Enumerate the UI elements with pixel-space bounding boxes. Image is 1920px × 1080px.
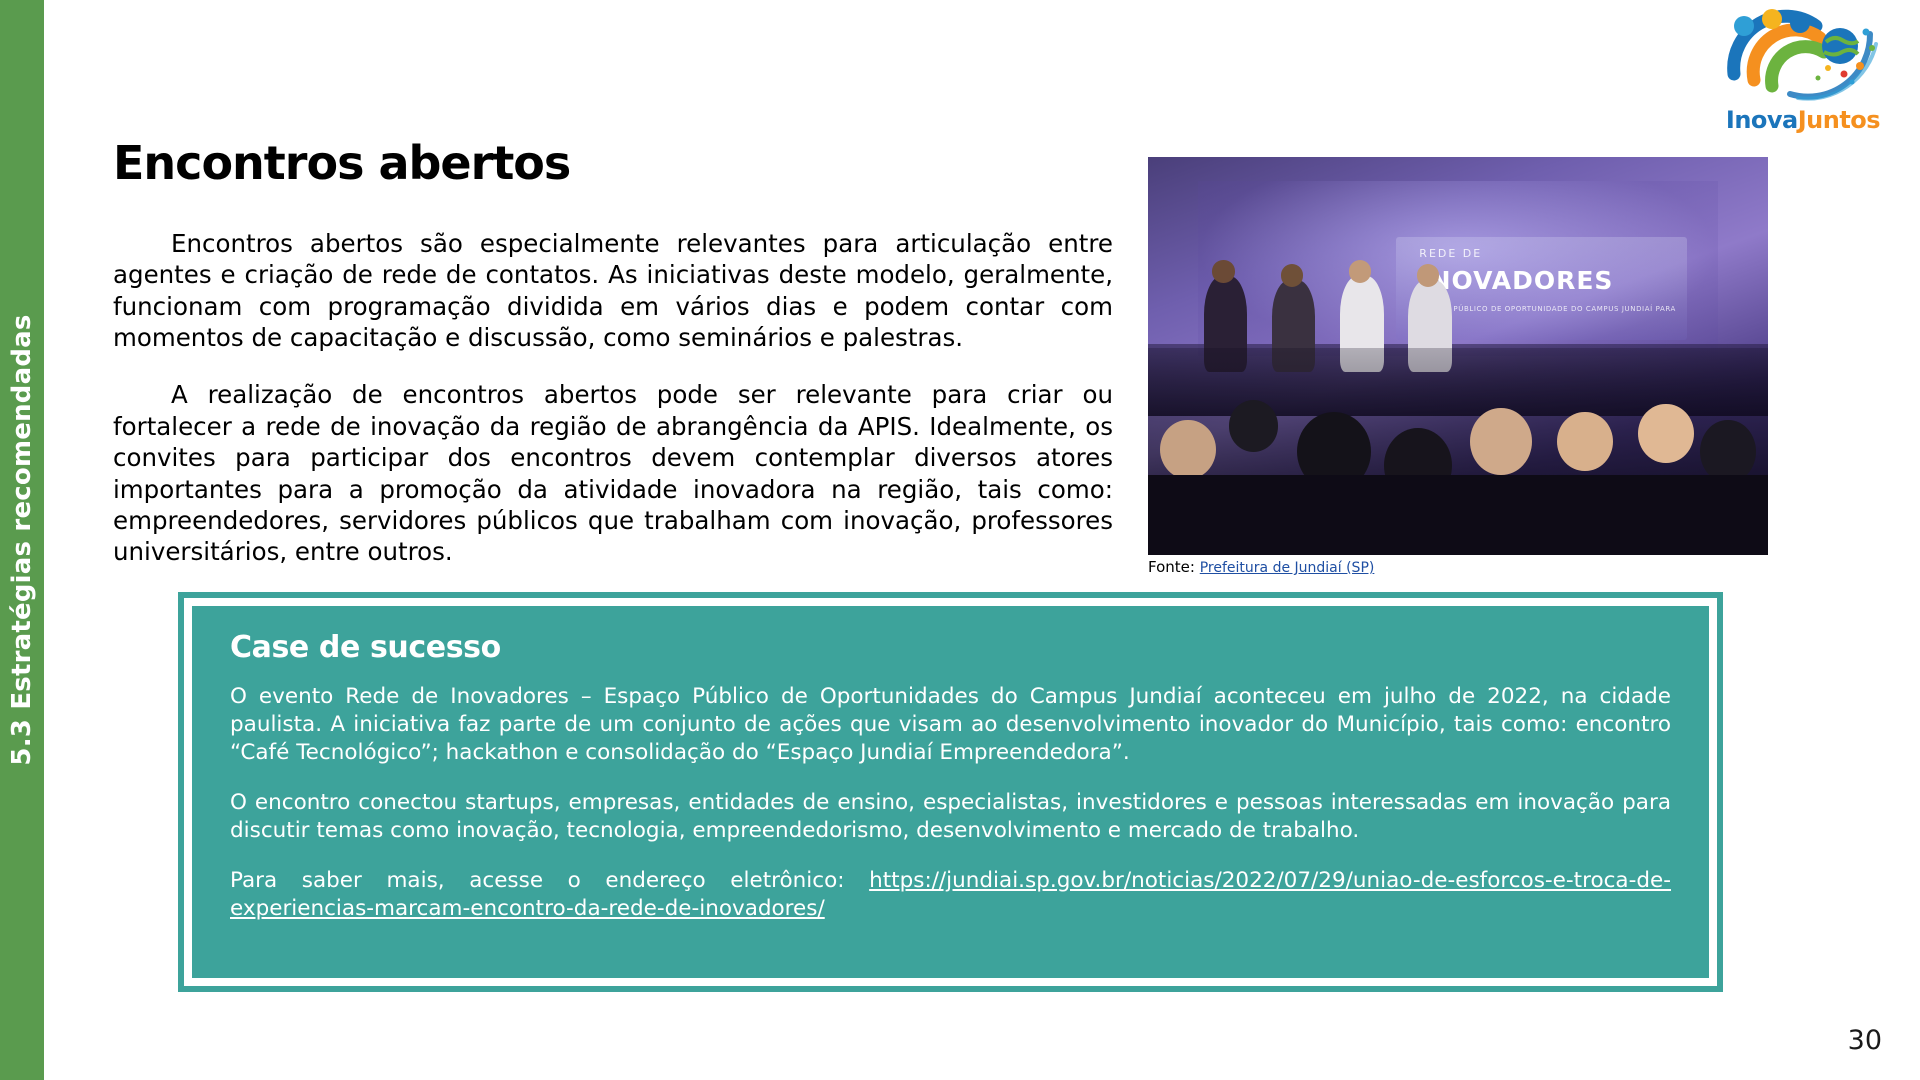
- photo-screen-line-2: INOVADORES: [1419, 266, 1613, 295]
- page-number: 30: [1848, 1025, 1882, 1056]
- page-title: Encontros abertos: [113, 136, 570, 190]
- body-paragraph-1: Encontros abertos são especialmente rele…: [113, 228, 1113, 353]
- photo-audience-head: [1638, 404, 1694, 464]
- case-study-paragraph-3: Para saber mais, acesse o endereço eletr…: [230, 867, 1671, 923]
- photo-audience-head: [1160, 420, 1216, 480]
- inovajuntos-globe-icon: [1720, 4, 1886, 104]
- logo-wordmark-part1: Inova: [1726, 106, 1798, 134]
- body-text-column: Encontros abertos são especialmente rele…: [113, 228, 1113, 594]
- case-study-box: Case de sucesso O evento Rede de Inovado…: [178, 592, 1723, 992]
- case-study-link-prefix: Para saber mais, acesse o endereço eletr…: [230, 868, 869, 893]
- sidebar-section-label: 5.3 Estratégias recomendadas: [7, 314, 37, 765]
- photo-screen-line-1: REDE DE: [1419, 247, 1482, 260]
- photo-speaker-head: [1349, 260, 1371, 282]
- photo-source-link[interactable]: Prefeitura de Jundiaí (SP): [1200, 560, 1375, 576]
- case-study-paragraph-2: O encontro conectou startups, empresas, …: [230, 789, 1671, 845]
- body-paragraph-2: A realização de encontros abertos pode s…: [113, 379, 1113, 567]
- photo-audience-body: [1148, 475, 1768, 555]
- section-sidebar: 5.3 Estratégias recomendadas: [0, 0, 44, 1080]
- photo-speaker-head: [1281, 264, 1303, 286]
- logo-wordmark: InovaJuntos: [1720, 106, 1886, 134]
- case-study-title: Case de sucesso: [230, 630, 1671, 665]
- photo-caption: Fonte: Prefeitura de Jundiaí (SP): [1148, 558, 1374, 576]
- event-photo-image: REDE DE INOVADORES ESPAÇO PÚBLICO DE OPO…: [1148, 157, 1768, 555]
- photo-speaker-head: [1212, 260, 1234, 282]
- logo-wordmark-part2: Juntos: [1798, 106, 1880, 134]
- slide: 5.3 Estratégias recomendadas InovaJuntos: [0, 0, 1920, 1080]
- photo-caption-prefix: Fonte:: [1148, 558, 1195, 576]
- photo-speaker-head: [1417, 264, 1439, 286]
- case-study-box-inner: Case de sucesso O evento Rede de Inovado…: [192, 606, 1709, 978]
- inovajuntos-logo: InovaJuntos: [1720, 4, 1886, 136]
- event-photo: REDE DE INOVADORES ESPAÇO PÚBLICO DE OPO…: [1148, 157, 1768, 555]
- photo-audience-head: [1700, 420, 1756, 484]
- case-study-paragraph-1: O evento Rede de Inovadores – Espaço Púb…: [230, 683, 1671, 767]
- photo-screen-line-3: ESPAÇO PÚBLICO DE OPORTUNIDADE DO CAMPUS…: [1419, 305, 1687, 324]
- photo-audience-head: [1557, 412, 1613, 472]
- photo-audience-head: [1229, 400, 1279, 452]
